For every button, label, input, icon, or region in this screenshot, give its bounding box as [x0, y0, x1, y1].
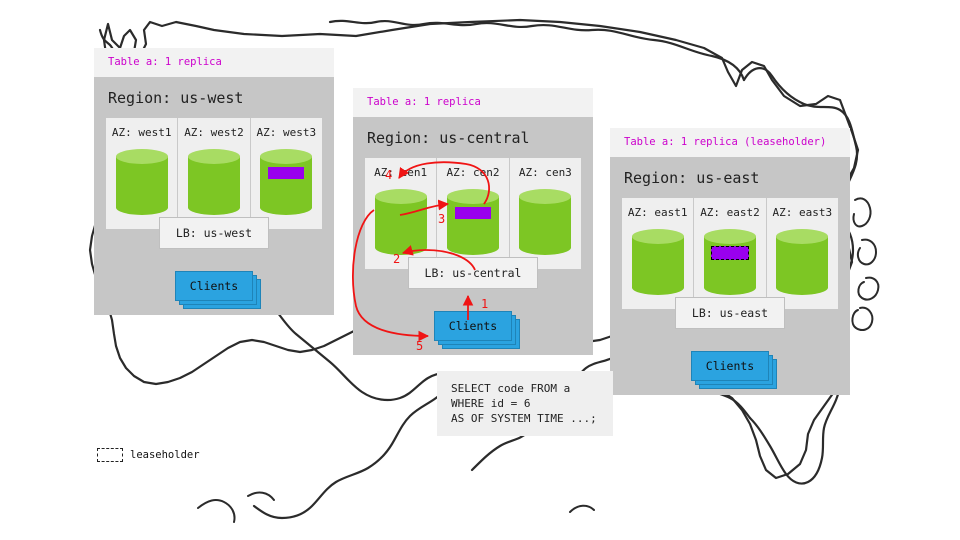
az-card-west1[interactable]: AZ: west1 — [106, 118, 178, 229]
clients-label-us-east[interactable]: Clients — [691, 351, 769, 381]
az-label-east3: AZ: east3 — [767, 206, 838, 219]
az-label-west1: AZ: west1 — [106, 126, 177, 139]
cylinder-top — [776, 229, 828, 244]
clients-wrap-us-west: Clients — [175, 271, 253, 301]
flow-step-number-3: 3 — [438, 212, 445, 226]
region-header-us-west: Table a: 1 replica — [94, 48, 334, 77]
region-panel-us-central: Table a: 1 replica Region: us-central AZ… — [353, 88, 593, 355]
az-card-east3[interactable]: AZ: east3 — [767, 198, 838, 309]
legend: leaseholder — [97, 448, 200, 462]
sql-query-box: SELECT code FROM a WHERE id = 6 AS OF SY… — [437, 371, 613, 436]
region-title-us-east: Region: us-east — [622, 157, 838, 198]
cylinder-top — [632, 229, 684, 244]
az-card-cen3[interactable]: AZ: cen3 — [510, 158, 581, 269]
az-label-cen3: AZ: cen3 — [510, 166, 581, 179]
region-title-us-west: Region: us-west — [106, 77, 322, 118]
cylinder-top — [447, 189, 499, 204]
load-balancer-us-west[interactable]: LB: us-west — [159, 217, 269, 249]
legend-label: leaseholder — [130, 449, 200, 461]
az-card-east2[interactable]: AZ: east2 — [694, 198, 766, 309]
cylinder-top — [519, 189, 571, 204]
clients-stack-us-west[interactable]: Clients — [175, 271, 253, 301]
node-cylinder-cen3[interactable] — [519, 189, 571, 255]
az-card-east1[interactable]: AZ: east1 — [622, 198, 694, 309]
az-label-cen2: AZ: cen2 — [437, 166, 508, 179]
az-row-us-east: AZ: east1 AZ: east2 — [622, 198, 838, 309]
node-cylinder-cen1[interactable] — [375, 189, 427, 255]
az-row-us-west: AZ: west1 AZ: west2 AZ — [106, 118, 322, 229]
clients-label-us-west[interactable]: Clients — [175, 271, 253, 301]
flow-step-number-4: 4 — [385, 168, 392, 182]
clients-wrap-us-east: Clients — [691, 351, 769, 381]
cylinder-top — [375, 189, 427, 204]
cylinder-top — [188, 149, 240, 164]
az-card-cen1[interactable]: AZ: cen1 — [365, 158, 437, 269]
az-card-west3[interactable]: AZ: west3 — [251, 118, 322, 229]
diagram-stage: Table a: 1 replica Region: us-west AZ: w… — [0, 0, 960, 540]
cylinder-top — [116, 149, 168, 164]
load-balancer-us-central[interactable]: LB: us-central — [408, 257, 539, 289]
region-panel-us-west: Table a: 1 replica Region: us-west AZ: w… — [94, 48, 334, 315]
flow-step-number-5: 5 — [416, 339, 423, 353]
az-label-east2: AZ: east2 — [694, 206, 765, 219]
flow-step-number-2: 2 — [393, 252, 400, 266]
node-cylinder-cen2[interactable] — [447, 189, 499, 255]
region-body-us-central: Region: us-central AZ: cen1 AZ: cen2 — [353, 117, 593, 355]
region-body-us-east: Region: us-east AZ: east1 AZ: east2 — [610, 157, 850, 395]
region-body-us-west: Region: us-west AZ: west1 AZ: west2 — [94, 77, 334, 315]
region-panel-us-east: Table a: 1 replica (leaseholder) Region:… — [610, 128, 850, 395]
clients-stack-us-central[interactable]: Clients — [434, 311, 512, 341]
az-label-cen1: AZ: cen1 — [365, 166, 436, 179]
clients-stack-us-east[interactable]: Clients — [691, 351, 769, 381]
flow-step-number-1: 1 — [481, 297, 488, 311]
region-header-us-central: Table a: 1 replica — [353, 88, 593, 117]
node-cylinder-west1[interactable] — [116, 149, 168, 215]
cylinder-top — [260, 149, 312, 164]
clients-label-us-central[interactable]: Clients — [434, 311, 512, 341]
az-card-cen2[interactable]: AZ: cen2 — [437, 158, 509, 269]
node-cylinder-east2[interactable] — [704, 229, 756, 295]
node-cylinder-east1[interactable] — [632, 229, 684, 295]
clients-wrap-us-central: Clients — [434, 311, 512, 341]
replica-block-cen2[interactable] — [455, 207, 491, 219]
node-cylinder-west3[interactable] — [260, 149, 312, 215]
node-cylinder-west2[interactable] — [188, 149, 240, 215]
az-label-east1: AZ: east1 — [622, 206, 693, 219]
node-cylinder-east3[interactable] — [776, 229, 828, 295]
region-header-us-east: Table a: 1 replica (leaseholder) — [610, 128, 850, 157]
az-label-west3: AZ: west3 — [251, 126, 322, 139]
region-title-us-central: Region: us-central — [365, 117, 581, 158]
az-label-west2: AZ: west2 — [178, 126, 249, 139]
replica-block-east2-leaseholder[interactable] — [711, 246, 749, 260]
dashed-rectangle-icon — [97, 448, 123, 462]
load-balancer-us-east[interactable]: LB: us-east — [675, 297, 785, 329]
az-card-west2[interactable]: AZ: west2 — [178, 118, 250, 229]
cylinder-top — [704, 229, 756, 244]
replica-block-west3[interactable] — [268, 167, 304, 179]
